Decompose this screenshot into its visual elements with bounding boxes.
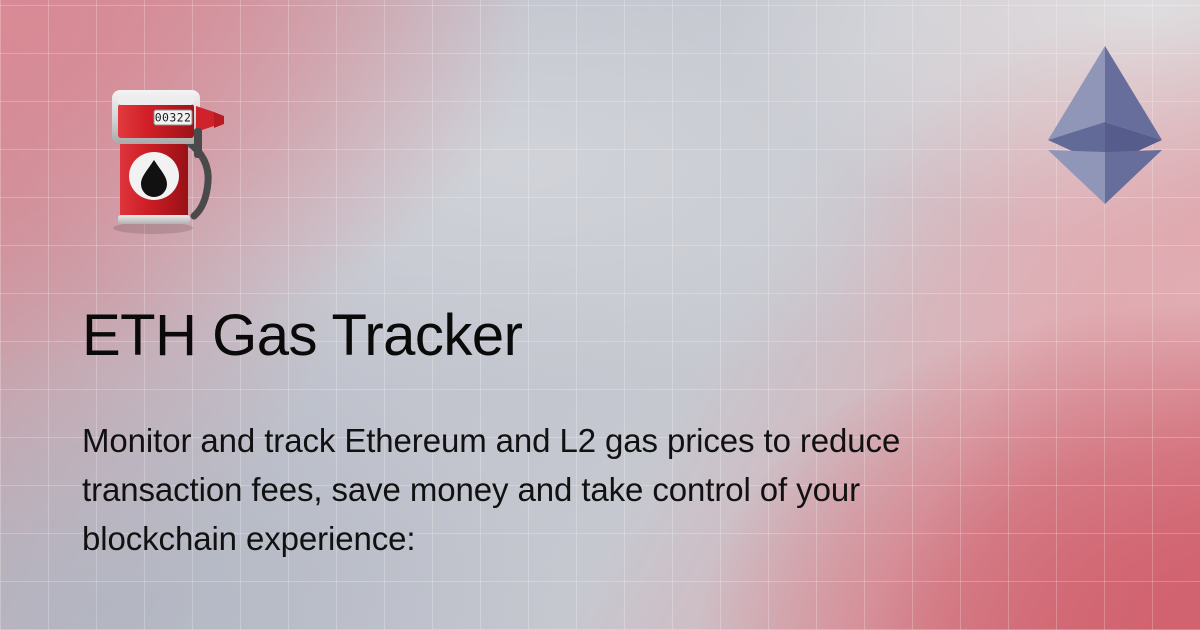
page-description-line-1: Monitor and track Ethereum and L2 gas pr… (82, 416, 1072, 465)
page-title: ETH Gas Tracker (82, 300, 522, 372)
page-description-line-2: transaction fees, save money and take co… (82, 465, 1072, 514)
card-content: 00322 (0, 0, 1200, 630)
ethereum-logo (1046, 44, 1164, 206)
page-description-line-3: blockchain experience: (82, 514, 1072, 563)
pump-meter-value: 00322 (155, 111, 192, 125)
page-description: Monitor and track Ethereum and L2 gas pr… (82, 416, 1072, 563)
og-card: 00322 (0, 0, 1200, 630)
fuel-pump-emoji: 00322 (98, 76, 230, 236)
